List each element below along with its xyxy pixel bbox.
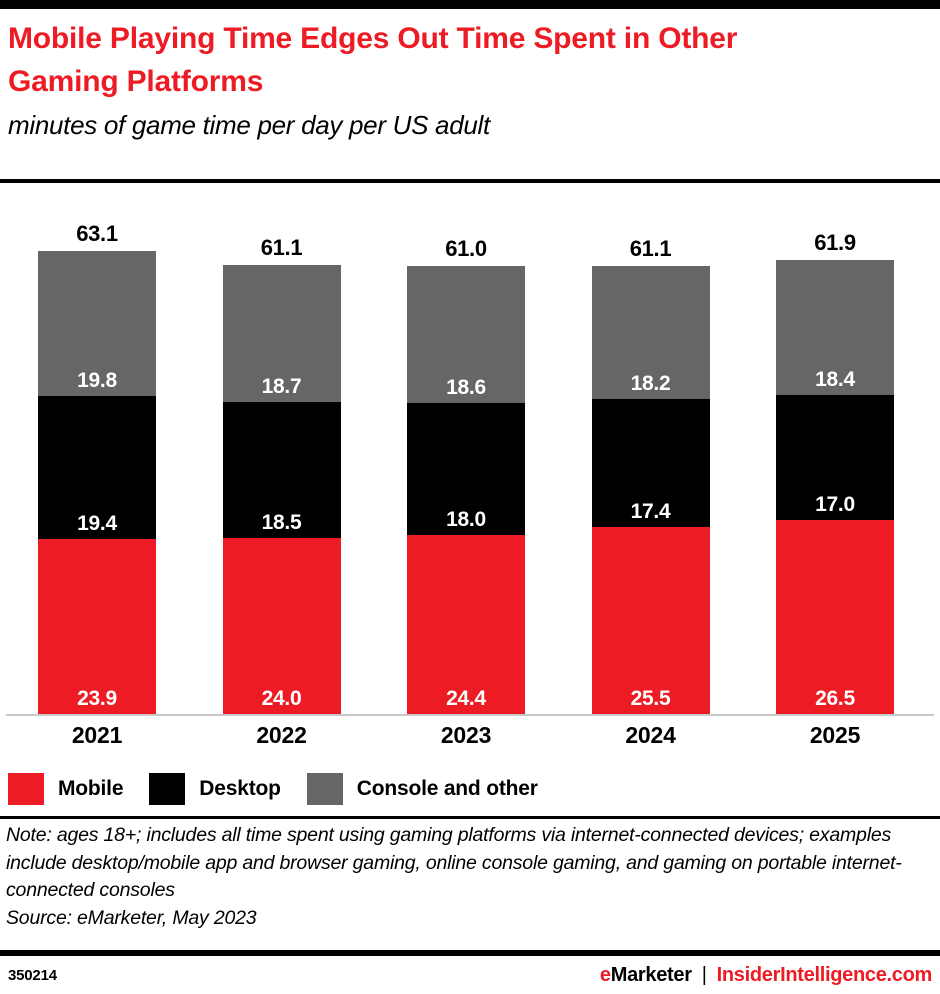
x-axis-tick-label: 2021 [28,724,166,747]
legend-item-desktop[interactable]: Desktop [149,773,280,805]
note-text: Note: ages 18+; includes all time spent … [6,824,902,901]
legend-label-mobile: Mobile [58,777,123,801]
page-title: Mobile Playing Time Edges Out Time Spent… [8,18,838,103]
brand-separator: | [702,964,707,987]
bar-segment-mobile[interactable]: 24.4 [407,535,525,714]
legend-swatch-desktop [149,773,185,805]
bar-segment-console-and-other[interactable]: 18.7 [223,265,341,402]
segment-value-label: 17.0 [776,494,894,515]
brand-insider-intelligence[interactable]: InsiderIntelligence.com [717,964,932,987]
bar-segment-mobile[interactable]: 24.0 [223,538,341,714]
page-footer: 350214 eMarketer | InsiderIntelligence.c… [0,956,940,994]
chart-legend: Mobile Desktop Console and other [8,771,564,807]
bar-segment-desktop[interactable]: 18.0 [407,403,525,535]
segment-value-label: 26.5 [776,688,894,709]
bar-group-2021[interactable]: 19.819.423.963.12021 [38,251,156,714]
bar-segment-desktop[interactable]: 17.4 [592,399,710,527]
source-text: Source: eMarketer, May 2023 [6,905,932,933]
bar-group-2025[interactable]: 18.417.026.561.92025 [776,260,894,714]
bar-total-label: 61.9 [776,232,894,254]
x-axis-tick-label: 2022 [213,724,351,747]
bar-segment-desktop[interactable]: 17.0 [776,395,894,520]
segment-value-label: 19.8 [38,370,156,391]
header-divider [0,179,940,183]
segment-value-label: 18.4 [776,369,894,390]
bar-total-label: 61.0 [407,238,525,260]
bar-segment-console-and-other[interactable]: 19.8 [38,251,156,396]
chart-plot-area: 19.819.423.963.1202118.718.524.061.12022… [0,190,940,718]
segment-value-label: 18.6 [407,377,525,398]
chart-id: 350214 [8,967,57,984]
bar-total-label: 63.1 [38,223,156,245]
bar-total-label: 61.1 [223,237,341,259]
segment-value-label: 24.4 [407,688,525,709]
x-axis-tick-label: 2023 [397,724,535,747]
page-subtitle: minutes of game time per day per US adul… [8,109,928,143]
segment-value-label: 19.4 [38,513,156,534]
legend-swatch-mobile [8,773,44,805]
bar-total-label: 61.1 [592,238,710,260]
bar-segment-console-and-other[interactable]: 18.6 [407,266,525,402]
x-axis-line [6,714,934,716]
stacked-bar: 18.417.026.561.92025 [776,260,894,714]
legend-item-console-and-other[interactable]: Console and other [307,773,538,805]
segment-value-label: 18.0 [407,509,525,530]
bar-segment-mobile[interactable]: 25.5 [592,527,710,714]
legend-label-console-and-other: Console and other [357,777,538,801]
bar-segment-mobile[interactable]: 23.9 [38,539,156,714]
bar-group-2024[interactable]: 18.217.425.561.12024 [592,266,710,714]
bar-group-2023[interactable]: 18.618.024.461.02023 [407,266,525,714]
bar-segment-desktop[interactable]: 19.4 [38,396,156,538]
segment-value-label: 23.9 [38,688,156,709]
brand-lockup: eMarketer | InsiderIntelligence.com [600,964,932,987]
bar-segment-desktop[interactable]: 18.5 [223,402,341,538]
segment-value-label: 18.2 [592,373,710,394]
chart-notes: Note: ages 18+; includes all time spent … [6,822,932,933]
x-axis-tick-label: 2024 [582,724,720,747]
segment-value-label: 25.5 [592,688,710,709]
segment-value-label: 17.4 [592,501,710,522]
note-divider [0,816,940,819]
chart-page: Mobile Playing Time Edges Out Time Spent… [0,0,940,994]
stacked-bar: 18.618.024.461.02023 [407,266,525,714]
stacked-bar: 19.819.423.963.12021 [38,251,156,714]
legend-swatch-console-and-other [307,773,343,805]
chart-header: Mobile Playing Time Edges Out Time Spent… [8,18,928,143]
bar-segment-console-and-other[interactable]: 18.4 [776,260,894,395]
legend-label-desktop: Desktop [199,777,280,801]
segment-value-label: 18.7 [223,376,341,397]
brand-marketer: Marketer [611,964,692,987]
stacked-bar: 18.718.524.061.12022 [223,265,341,714]
bar-group-2022[interactable]: 18.718.524.061.12022 [223,265,341,714]
bar-segment-mobile[interactable]: 26.5 [776,520,894,714]
segment-value-label: 24.0 [223,688,341,709]
top-rule [0,0,940,9]
segment-value-label: 18.5 [223,512,341,533]
x-axis-tick-label: 2025 [766,724,904,747]
bar-segment-console-and-other[interactable]: 18.2 [592,266,710,400]
legend-item-mobile[interactable]: Mobile [8,773,123,805]
stacked-bar: 18.217.425.561.12024 [592,266,710,714]
brand-e: e [600,964,611,987]
